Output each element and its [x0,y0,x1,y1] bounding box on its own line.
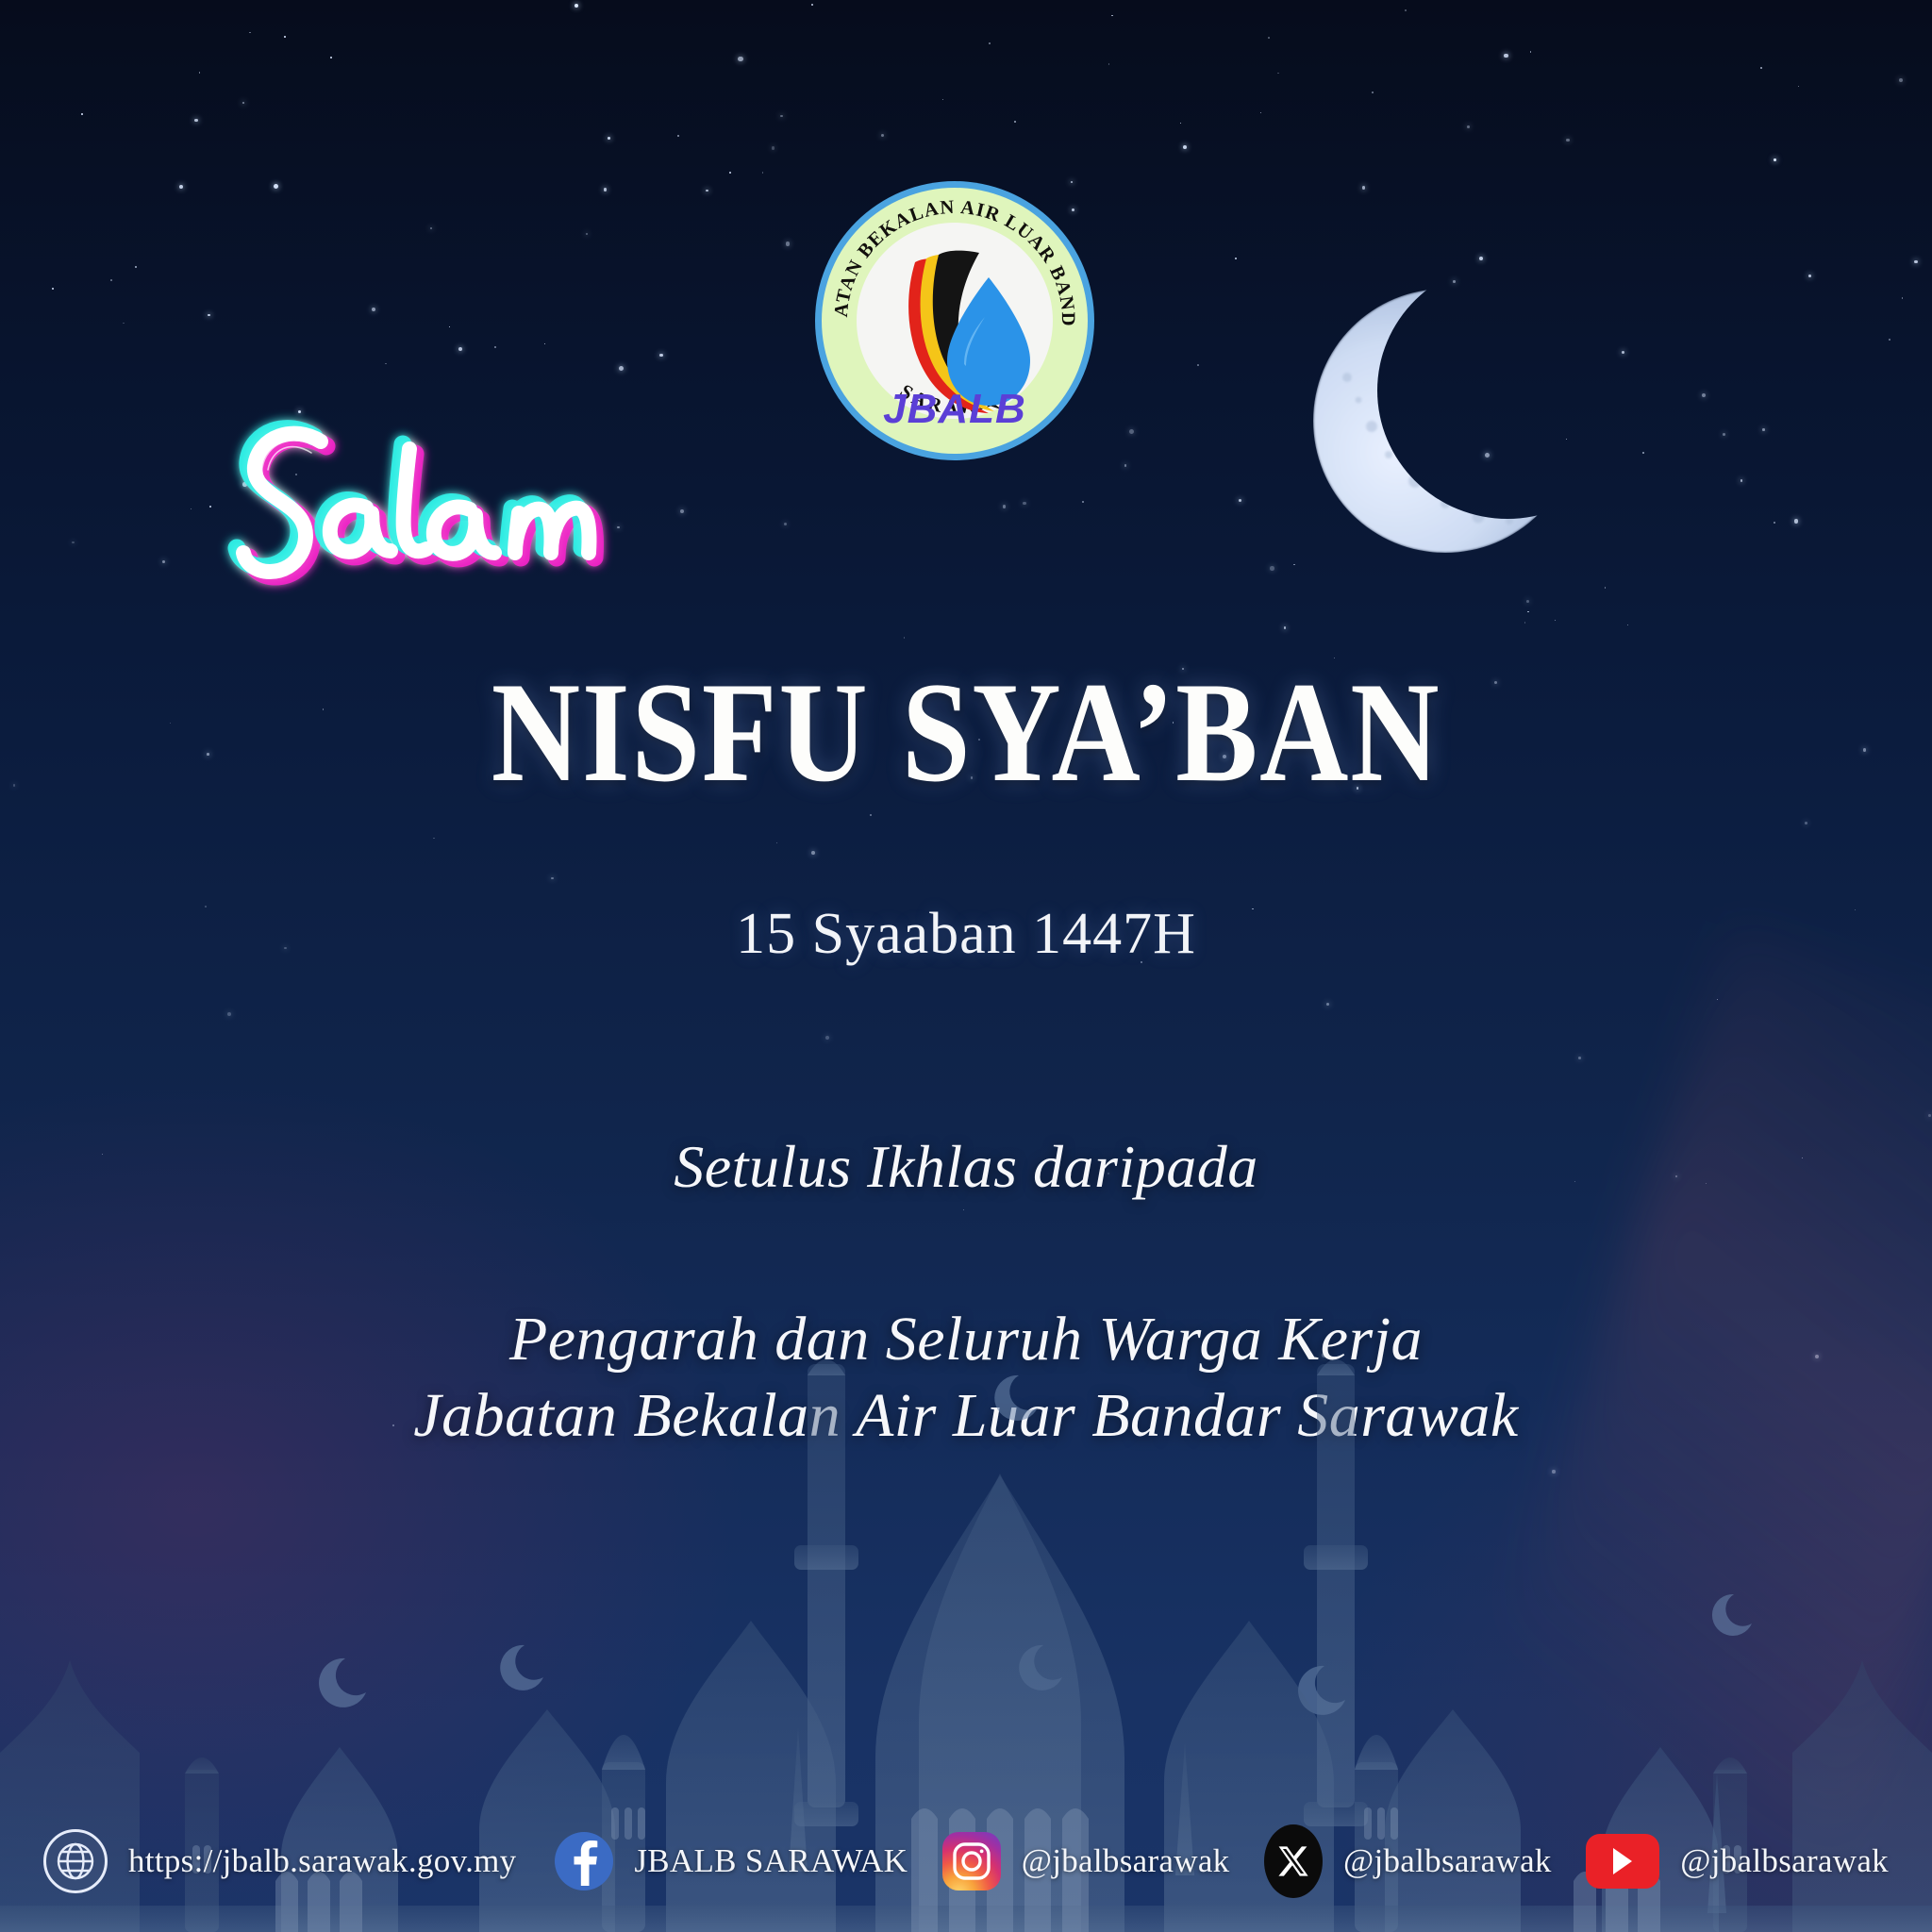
star [825,1036,829,1040]
star [1774,158,1775,160]
star [194,119,198,123]
star [608,137,610,140]
star [1293,564,1294,565]
footer-item-facebook[interactable]: JBALB SARAWAK [555,1832,908,1890]
star [729,172,731,174]
star [551,877,554,880]
star [284,36,286,38]
star [586,233,588,235]
star [1717,999,1718,1000]
star [677,135,679,137]
star [1605,587,1607,589]
star [81,113,83,115]
star [575,4,579,8]
star [1578,1057,1581,1059]
star [1530,51,1531,52]
star [811,851,815,855]
star [1552,1470,1555,1473]
star [772,146,774,149]
footer-item-instagram[interactable]: @jbalbsarawak [942,1832,1230,1890]
star [162,560,165,563]
star [1899,78,1903,82]
star [1124,464,1127,467]
star [1372,92,1374,93]
youtube-icon [1586,1834,1659,1889]
star [604,188,607,191]
star [1270,566,1274,571]
star [1003,505,1007,508]
star [1111,15,1113,17]
star [1504,54,1507,58]
footer-social-bar: https://jbalb.sarawak.gov.my JBALB SARAW… [0,1790,1932,1932]
star [1467,125,1470,128]
x-twitter-icon [1264,1824,1323,1898]
star [1798,86,1799,87]
star [1362,186,1366,190]
star [1622,351,1624,354]
star [1197,364,1199,366]
star [1774,522,1775,524]
star [1889,339,1890,341]
star [1260,112,1261,113]
footer-item-x[interactable]: @jbalbsarawak [1264,1824,1552,1898]
star [1183,145,1187,149]
star [786,241,791,246]
star [208,314,209,316]
star [123,323,124,324]
star [1239,499,1241,502]
footer-item-youtube[interactable]: @jbalbsarawak [1586,1834,1889,1889]
star [242,102,245,105]
star [1760,67,1762,69]
signoff-body: Pengarah dan Seluruh Warga Kerja Jabatan… [0,1302,1932,1454]
star [1902,297,1904,299]
star [1326,1003,1329,1006]
star [1405,9,1407,11]
globe-icon [43,1829,108,1893]
star [330,57,332,58]
poster-canvas: JABATAN BEKALAN AIR LUAR BANDAR SARAWAK … [0,0,1932,1932]
star [1180,123,1181,124]
star [1723,433,1726,437]
star [449,326,451,328]
star [870,814,872,816]
star [1524,622,1526,624]
star [784,523,787,525]
star [1566,139,1569,142]
star [274,184,278,189]
facebook-handle: JBALB SARAWAK [634,1842,908,1880]
star [430,227,433,230]
star [52,288,54,290]
star [72,541,75,544]
star [619,366,625,372]
star [179,185,183,189]
star [1702,393,1706,397]
star [1526,600,1529,603]
facebook-icon [555,1832,613,1890]
star [249,32,251,34]
star [904,637,906,639]
star [881,134,884,137]
star [738,57,743,62]
star [1235,258,1237,259]
star [199,72,201,74]
instagram-icon [942,1832,1001,1890]
star [135,266,136,267]
star [494,346,496,348]
star [1082,501,1084,503]
star [811,4,813,6]
star [13,784,15,786]
website-url: https://jbalb.sarawak.gov.my [128,1842,516,1880]
star [1794,519,1799,524]
star [780,115,782,117]
instagram-handle: @jbalbsarawak [1022,1842,1230,1880]
star [1805,822,1808,825]
jbalb-logo: JABATAN BEKALAN AIR LUAR BANDAR SARAWAK … [813,179,1096,462]
star [776,842,777,843]
star [433,838,435,840]
star [1284,626,1287,629]
signoff-line-2: Jabatan Bekalan Air Luar Bandar Sarawak [0,1378,1932,1455]
star [942,99,943,100]
signoff-line-1: Pengarah dan Seluruh Warga Kerja [0,1302,1932,1378]
star [1014,121,1016,123]
star [1555,620,1556,621]
page-title: NISFU SYA’BAN [135,660,1796,804]
star [1642,452,1644,454]
star [544,343,546,345]
logo-wordmark: JBALB [883,386,1026,432]
star [1740,479,1743,482]
star [1277,73,1278,74]
salam-script-text [200,396,691,604]
star [372,308,375,311]
star [1023,502,1026,506]
star [1863,748,1866,751]
star [191,508,192,509]
star [989,42,991,44]
x-handle: @jbalbsarawak [1343,1842,1552,1880]
star [385,363,387,365]
star [1808,275,1811,277]
star [1762,428,1765,431]
crescent-moon-icon [1285,279,1606,562]
star [458,347,462,351]
star [1108,63,1110,65]
hijri-date: 15 Syaaban 1447H [0,901,1932,968]
star [1914,260,1918,264]
star [1268,37,1270,39]
star [659,354,662,357]
youtube-handle: @jbalbsarawak [1680,1842,1889,1880]
star [1627,625,1628,625]
star [1527,611,1529,613]
star [227,1012,231,1016]
star [1928,1114,1931,1117]
star [706,190,708,192]
star [110,279,112,281]
star [1479,257,1484,261]
star [963,1209,964,1210]
signoff-intro: Setulus Ikhlas daripada [0,1132,1932,1202]
footer-item-website[interactable]: https://jbalb.sarawak.gov.my [43,1829,516,1893]
star [762,172,764,174]
star [1129,429,1134,434]
